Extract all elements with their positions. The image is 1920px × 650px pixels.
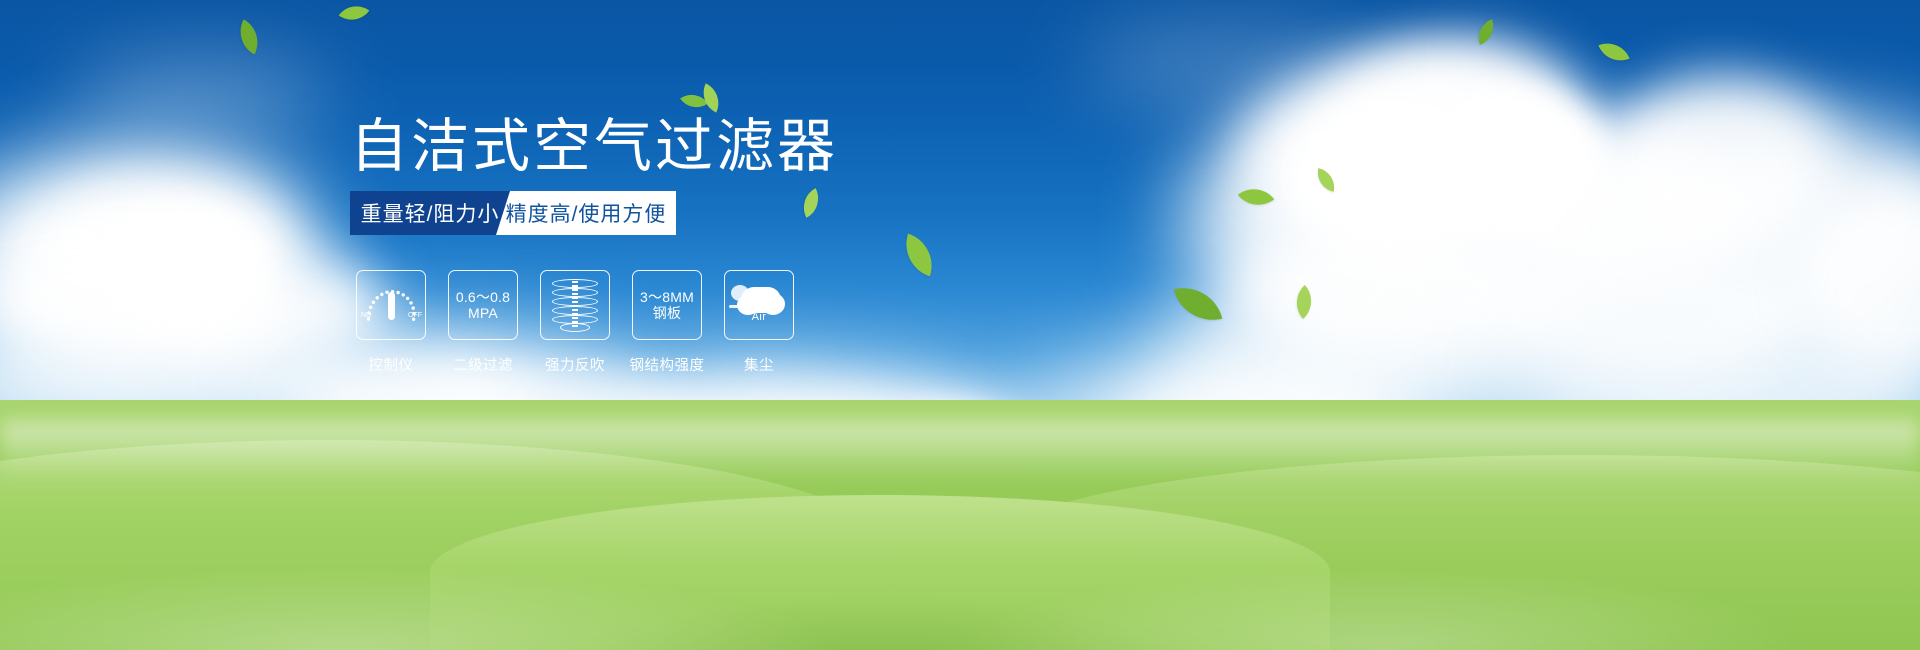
- feature-item-steel: 3～8MM 钢板 钢结构强度: [632, 270, 702, 375]
- feature-label: 控制仪: [369, 354, 414, 375]
- badge-weight-resistance: 重量轻/阻力小: [350, 191, 510, 235]
- cloud-body-icon: [741, 287, 781, 313]
- tagline-badges: 重量轻/阻力小 精度高/使用方便: [350, 191, 676, 235]
- feature-icon-box: [540, 270, 610, 340]
- gauge-no-label: NO: [361, 312, 372, 319]
- feature-list: NO OFF 控制仪 0.6～0.8 MPA 二级过滤: [356, 270, 794, 375]
- cloud-air-icon: Air: [731, 283, 787, 327]
- feature-icon-box: NO OFF: [356, 270, 426, 340]
- page-title: 自洁式空气过滤器: [350, 116, 838, 178]
- feature-item-controller: NO OFF 控制仪: [356, 270, 426, 375]
- gauge-icon: NO OFF: [362, 282, 420, 328]
- pressure-text-icon: 0.6～0.8 MPA: [456, 289, 510, 321]
- feature-item-filtration: 0.6～0.8 MPA 二级过滤: [448, 270, 518, 375]
- coil-ring-icon: [552, 279, 598, 288]
- air-label: Air: [731, 311, 787, 323]
- coil-ring-icon: [560, 323, 590, 332]
- feature-icon-box: Air: [724, 270, 794, 340]
- badge-precision-convenience: 精度高/使用方便: [496, 191, 676, 235]
- steel-text-icon: 3～8MM 钢板: [640, 289, 694, 321]
- feature-item-dust: Air 集尘: [724, 270, 794, 375]
- feature-label: 强力反吹: [545, 354, 605, 375]
- feature-icon-box: 3～8MM 钢板: [632, 270, 702, 340]
- coil-ring-icon: [552, 306, 598, 315]
- banner-content: 自洁式空气过滤器 重量轻/阻力小 精度高/使用方便: [0, 0, 1920, 650]
- feature-icon-box: 0.6～0.8 MPA: [448, 270, 518, 340]
- product-banner: 自洁式空气过滤器 重量轻/阻力小 精度高/使用方便: [0, 0, 1920, 650]
- coil-ring-icon: [552, 297, 598, 306]
- cloud-swoosh-icon: [729, 305, 755, 308]
- feature-item-blowback: 强力反吹: [540, 270, 610, 375]
- feature-label: 集尘: [744, 354, 774, 375]
- feature-label: 二级过滤: [453, 354, 513, 375]
- gauge-off-label: OFF: [408, 312, 422, 319]
- gauge-needle-icon: [388, 292, 395, 320]
- coil-icon: [552, 279, 598, 331]
- coil-ring-icon: [552, 288, 598, 297]
- feature-label: 钢结构强度: [630, 354, 705, 375]
